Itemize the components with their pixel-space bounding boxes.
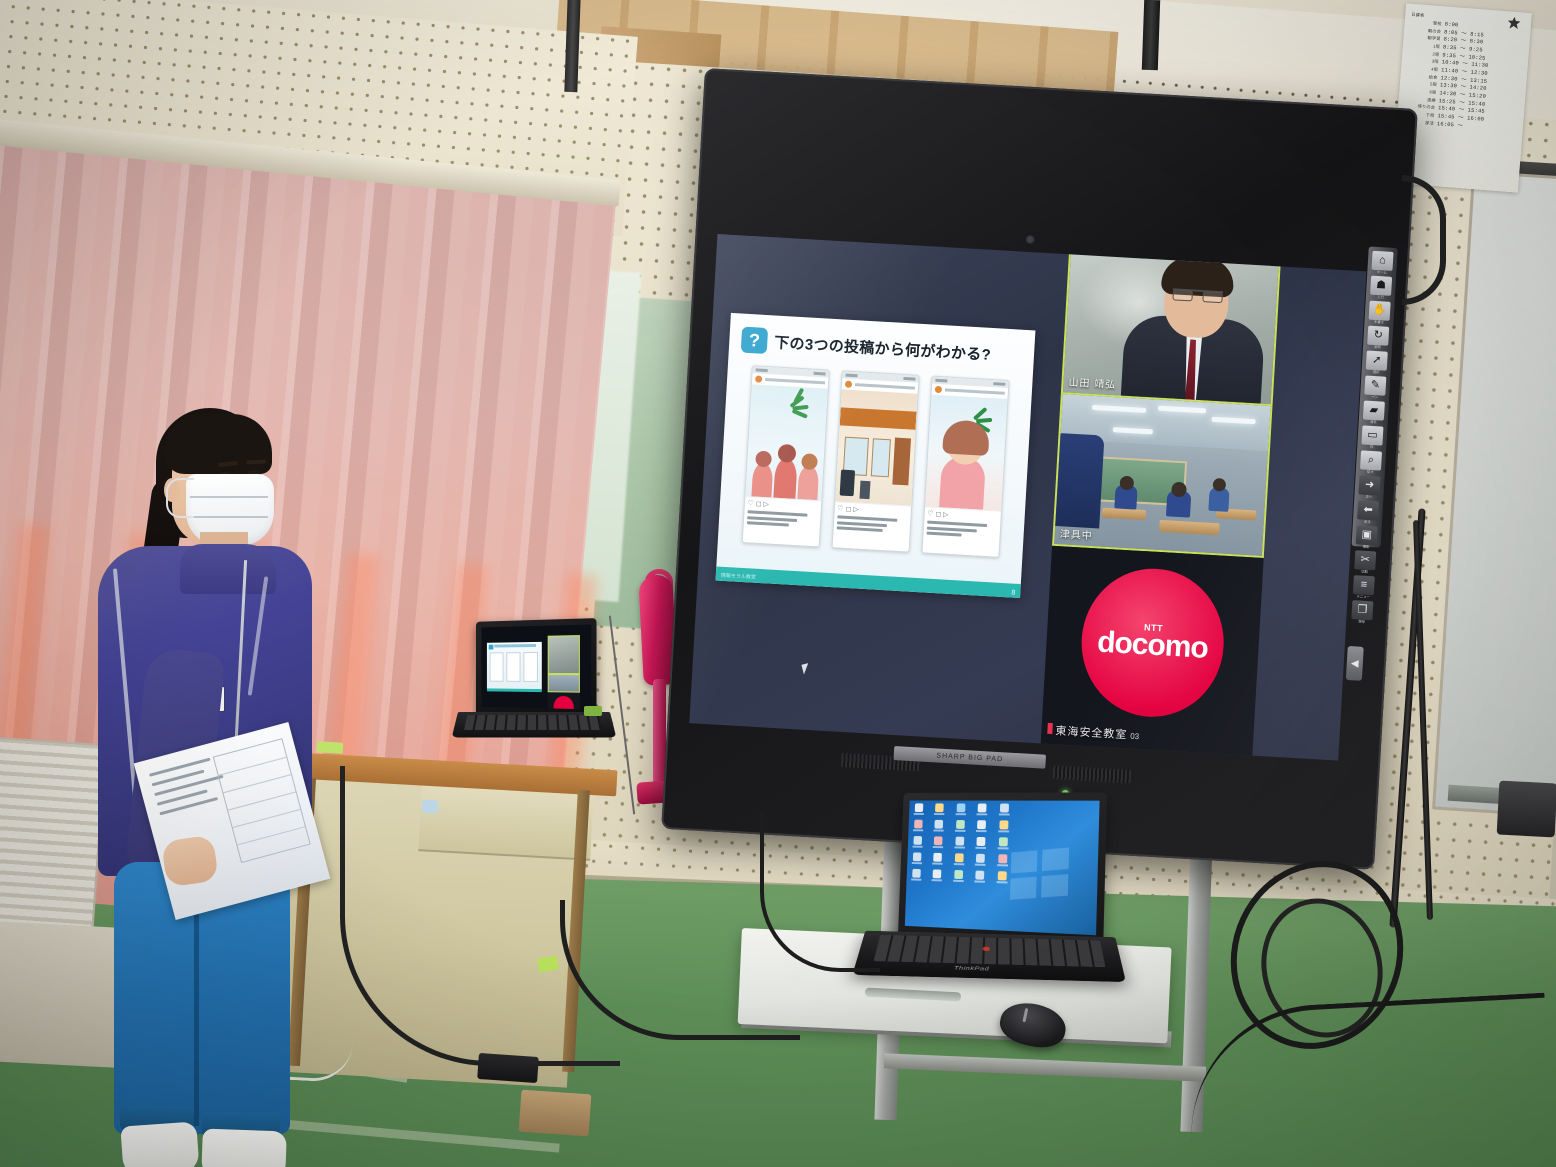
toolbar-item-label: 保存 [1358,619,1365,624]
figure-head [755,451,772,468]
figure-head [801,453,818,470]
mini-title [494,644,536,648]
mini-sponsor-panel [548,692,580,709]
post-image [925,395,1007,511]
toolbar-item-camera[interactable]: ▣撮影 [1355,525,1377,549]
toolbar-item-arrow-right[interactable]: ➜次へ [1358,475,1380,499]
presentation-slide[interactable]: ? 下の3つの投稿から何がわかる? [716,313,1036,598]
desktop-icon[interactable] [974,854,987,869]
post-image [835,389,917,505]
video-tile-presenter[interactable]: 山田 靖弘 [1061,242,1281,406]
sign-board [859,481,870,500]
floor-access-plate [519,1090,592,1137]
mini-question-badge-icon [489,645,494,650]
desktop-icon[interactable] [931,869,944,884]
post-caption [832,513,910,551]
toolbar-item-frame[interactable]: ▭枠 [1361,425,1383,449]
laptop-lid [476,618,596,720]
post-image [745,384,827,500]
student-standing: 穴 [60,400,360,1167]
caption-flag-icon [1047,723,1053,734]
sns-post-card[interactable]: ♡ ◻ ▷ [831,370,919,552]
sponsor-caption-number: 03 [1130,732,1139,741]
toolbar-item-refresh[interactable]: ↻更新 [1367,326,1389,350]
desktop-icon[interactable] [973,871,986,886]
glasses-icon [1172,288,1223,302]
toolbar-item-label: 切取 [1361,569,1368,574]
sns-post-mockups: ♡ ◻ ▷ [718,364,1033,559]
toolbar-item-label: ペン [1371,394,1378,399]
jacket-collar [180,544,276,594]
figure [773,458,797,499]
eraser-icon[interactable]: ▰ [1363,400,1385,420]
windows-logo-icon [1010,848,1070,901]
figure [751,462,773,497]
toolbar-item-cursor-arrow[interactable]: ➚選択 [1366,351,1388,375]
post-username [854,383,914,389]
shop-window [870,438,890,477]
figure-head [777,444,796,463]
desktop-icon[interactable] [911,836,924,851]
video-tile-name-presenter: 山田 靖弘 [1068,373,1117,391]
desktop-icon[interactable] [997,804,1010,819]
slide-header: ? 下の3つの投稿から何がわかる? [729,313,1036,369]
desktop-icon[interactable] [953,853,966,868]
post-username [944,388,1004,394]
toolbar-item-eraser[interactable]: ▰消去 [1363,400,1385,424]
display-screen[interactable]: ? 下の3つの投稿から何がわかる? [689,234,1366,761]
shop-awning [839,407,916,429]
laptop-keyboard[interactable] [464,715,602,730]
remote-desk [1102,508,1147,521]
toolbar-item-label: 戻る [1364,519,1371,524]
toolbar-item-menu[interactable]: ≡メニュー [1353,575,1375,599]
power-adapter-brick [477,1053,539,1083]
refresh-icon[interactable]: ↻ [1367,326,1389,346]
desktop-icon[interactable] [976,803,989,818]
toolbar-item-label: 選択 [1373,369,1380,374]
interactive-flat-panel-display[interactable]: ? 下の3つの投稿から何がわかる? [661,68,1418,870]
remote-desk [1159,520,1220,535]
toolbar-item-magnifier[interactable]: ⌕拡大 [1360,450,1382,474]
slide-page-number: 8 [1011,590,1015,597]
sock-left [120,1121,199,1167]
toolbar-item-home[interactable]: ⌂ホーム [1371,251,1393,275]
sock-right [201,1129,287,1167]
laptop-brand-logo: ThinkPad [954,966,990,972]
toolbar-item-screenshot[interactable]: ❐保存 [1351,600,1373,624]
mini-post [506,652,520,682]
shop-door [892,437,911,485]
scissors-icon[interactable]: ✂ [1354,550,1376,570]
post-caption [742,508,820,546]
desktop-icon[interactable] [910,869,923,884]
toolbar-item-label: 枠 [1370,444,1374,449]
sns-post-card[interactable]: ♡ ◻ ▷ [921,376,1009,558]
mini-post [490,652,504,681]
toolbar-item-label: ホーム [1377,269,1387,275]
laptop-base: ThinkPad [852,931,1126,982]
toolbar-item-label: 手書き [1374,319,1384,325]
video-tile-name-classroom: 津具中 [1059,525,1093,542]
desktop-icon[interactable] [932,836,945,851]
menu-icon[interactable]: ≡ [1353,575,1375,595]
laptop-asset-label [584,706,602,716]
frame-icon[interactable]: ▭ [1361,425,1383,445]
video-tile-classroom[interactable]: 津具中 [1052,394,1272,558]
laptop-screen-mirrored-lesson[interactable] [481,624,591,709]
sponsor-caption-text: 東海安全教室 [1055,722,1128,742]
toolbar-item-scissors[interactable]: ✂切取 [1354,550,1376,574]
laptop-screen-windows-desktop[interactable] [905,800,1100,935]
desktop-icon[interactable] [911,852,924,867]
dark-equipment-box [1497,781,1556,838]
mini-video-presenter [548,635,580,674]
slide-title: 下の3つの投稿から何がわかる? [774,331,992,364]
avatar [934,386,941,393]
desktop-icon[interactable] [953,837,966,852]
toolbar-item-label: メニュー [1356,593,1370,599]
slide-footer-bar: 情報モラル教室 8 [716,566,1021,598]
trackpoint-nub[interactable] [983,946,990,951]
laptop-on-teacher-desk[interactable] [458,620,610,760]
figure [797,465,819,500]
toolbar-item-label: 次へ [1365,494,1372,499]
mini-video-classroom [548,674,580,693]
arrow-right-icon[interactable]: ➜ [1359,475,1381,495]
camera-icon[interactable]: ▣ [1356,525,1378,545]
laptop-on-stand[interactable]: ThinkPad [863,789,1119,1027]
post-caption [922,518,1000,556]
toolbar-item-label: 撮影 [1363,544,1370,549]
slide-footer-text: 情報モラル教室 [721,572,756,581]
toolbar-item-label: 消去 [1370,419,1377,424]
toolbar-item-person-share[interactable]: ☗入力 [1370,276,1392,300]
pen-icon[interactable]: ✎ [1364,376,1386,396]
desktop-icon[interactable] [975,820,988,835]
desktop-icon[interactable] [997,820,1010,835]
desktop-icon[interactable] [996,837,1009,852]
desktop-icon[interactable] [996,854,1009,869]
desktop-icon[interactable] [954,803,967,818]
classroom-photo-scene: 日課表 登校8:00朝の会8:05 ～ 8:15朝学習8:20 ～ 8:301限… [0,0,1556,1167]
screenshot-icon[interactable]: ❐ [1351,600,1373,620]
mini-post [523,652,537,682]
toolbar-item-hand[interactable]: ✋手書き [1368,301,1390,325]
mini-footer-bar [487,688,542,692]
toolbar-collapse-button[interactable]: ◀ [1346,646,1364,681]
magnifier-icon[interactable]: ⌕ [1360,450,1382,470]
home-icon[interactable]: ⌂ [1371,251,1393,271]
arrow-left-icon[interactable]: ⬅ [1357,500,1379,520]
question-badge-icon: ? [741,327,768,354]
laptop-keyboard[interactable] [874,935,1106,967]
desktop-icon[interactable] [931,853,944,868]
hanging-jacket [1052,433,1104,529]
toolbar-item-arrow-left[interactable]: ⬅戻る [1357,500,1379,524]
sns-post-card[interactable]: ♡ ◻ ▷ [741,365,829,547]
poster-rows: 登校8:00朝の会8:05 ～ 8:15朝学習8:20 ～ 8:301限8:35… [1403,19,1525,135]
toolbar-item-label: 拡大 [1367,469,1374,474]
toolbar-item-label: 入力 [1377,294,1384,299]
hand-icon[interactable]: ✋ [1369,301,1391,321]
post-username [765,378,825,384]
toolbar-item-label: 更新 [1374,344,1381,349]
mini-slide [487,642,542,692]
docomo-logo-icon: NTT docomo [1078,565,1228,721]
handout-table [213,738,311,863]
sponsor-caption: 東海安全教室 03 [1047,722,1140,743]
desktop-icons[interactable] [910,803,1018,886]
desktop-icon[interactable] [952,870,965,885]
avatar [754,375,761,382]
mask-ear-strap [166,478,194,518]
desktop-icon[interactable] [933,803,946,818]
sponsor-panel: NTT docomo 東海安全教室 03 [1041,546,1264,756]
desktop-icon[interactable] [933,820,946,835]
desktop-icon[interactable] [912,820,925,835]
plant-icon [789,392,820,420]
mouse-cursor-icon [801,663,810,674]
desktop-icon[interactable] [974,837,987,852]
avatar [844,381,851,388]
docomo-wordmark: docomo [1096,626,1208,666]
cursor-arrow-icon[interactable]: ➚ [1366,351,1388,371]
toolbar-item-pen[interactable]: ✎ペン [1364,376,1386,400]
vending-machine [839,469,854,496]
pants-seam [194,900,199,1126]
desktop-icon[interactable] [913,803,926,817]
desktop-icon[interactable] [995,871,1008,886]
desktop-icon[interactable] [954,820,967,835]
laptop-lid [898,792,1107,950]
ceiling-speaker-rod-2 [1142,0,1160,70]
person-share-icon[interactable]: ☗ [1370,276,1392,296]
